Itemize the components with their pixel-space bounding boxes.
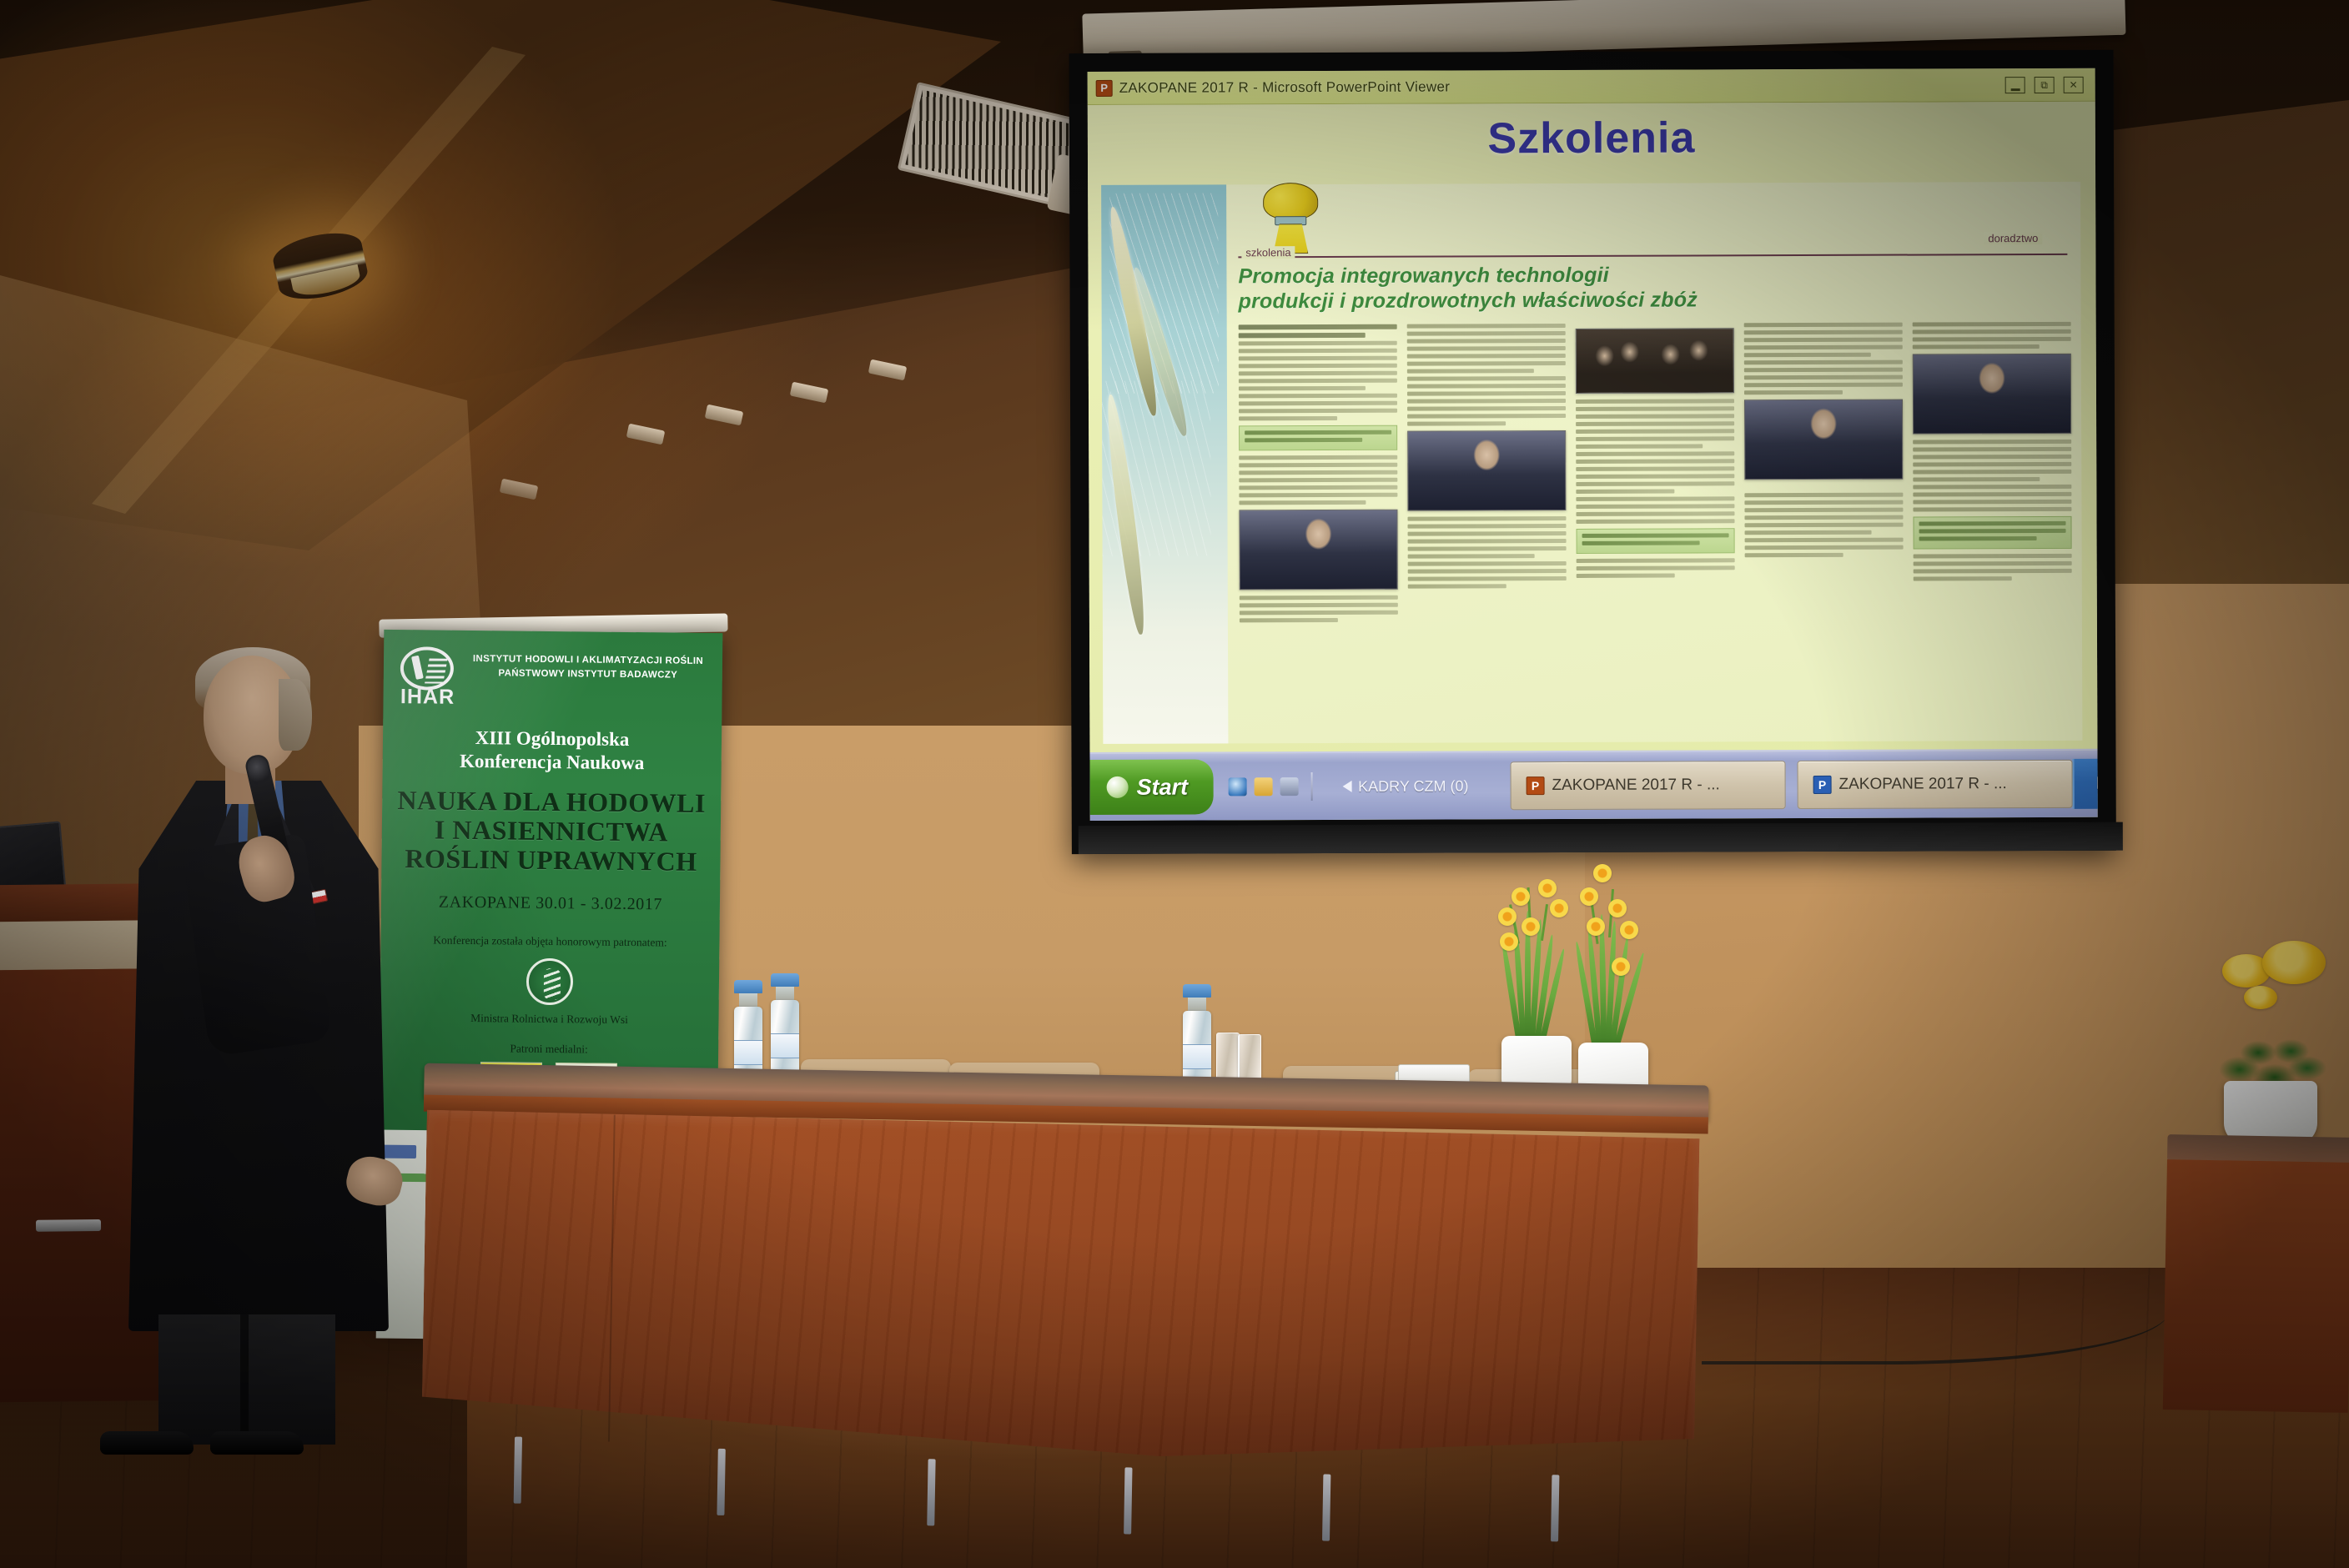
internet-explorer-icon[interactable]: [1228, 777, 1246, 796]
ihar-logo-mark: [400, 646, 455, 691]
powerpoint-viewer-window: P ZAKOPANE 2017 R - Microsoft PowerPoint…: [1088, 68, 2098, 821]
powerpoint-icon: P: [1096, 79, 1113, 96]
article-highlight-box: [1239, 425, 1397, 451]
start-button[interactable]: Start: [1089, 759, 1213, 815]
institute-name: INSTYTUT HODOWLI I AKLIMATYZACJI ROŚLIN …: [467, 647, 709, 682]
taskbar-item[interactable]: P ZAKOPANE 2017 R - ...: [1510, 761, 1785, 810]
trousers: [158, 1314, 335, 1445]
daffodil-bloom: [1608, 899, 1627, 917]
daffodil-bloom: [1538, 879, 1557, 897]
article-column: [1913, 322, 2073, 736]
screen-black-border: P ZAKOPANE 2017 R - Microsoft PowerPoint…: [1069, 50, 2116, 854]
article-portrait-photo: [1407, 430, 1566, 511]
window-titlebar[interactable]: P ZAKOPANE 2017 R - Microsoft PowerPoint…: [1088, 68, 2095, 105]
article-kicker-left: szkolenia: [1241, 246, 1295, 259]
daffodil-pot: [1572, 841, 1648, 1108]
article-body: szkolenia doradztwo Promocja integrowany…: [1226, 182, 2082, 744]
daffodil-bloom: [1612, 957, 1630, 976]
folder-icon[interactable]: [1254, 777, 1272, 796]
kalanchoe-plant: [2201, 926, 2349, 1151]
article-highlight-box: [1577, 528, 1735, 554]
bottle-label: [771, 1033, 799, 1058]
powerpoint-icon: P: [1526, 776, 1544, 795]
daffodil-bloom: [1593, 864, 1612, 882]
flower-cluster: [2244, 986, 2277, 1009]
media-player-icon[interactable]: [1280, 777, 1298, 796]
window-title: ZAKOPANE 2017 R - Microsoft PowerPoint V…: [1119, 78, 1451, 96]
water-bottle: [771, 973, 799, 1080]
banner-ministry: Ministra Rolnictwa i Rozwoju Wsi: [393, 1011, 705, 1028]
system-tray: PL 16:49: [2072, 758, 2097, 809]
conference-line-2: Konferencja Naukowa: [396, 749, 708, 776]
taskbar-item-label: ZAKOPANE 2017 R - ...: [1552, 776, 1719, 795]
institute-line-2: PAŃSTWOWY INSTYTUT BADAWCZY: [467, 666, 709, 683]
projection-screen: P ZAKOPANE 2017 R - Microsoft PowerPoint…: [1033, 15, 2140, 948]
conference-name: XIII Ogólnopolska Konferencja Naukowa: [396, 726, 709, 776]
banner-patronage-intro: Konferencja została objęta honorowym pat…: [394, 933, 706, 950]
daffodil-bloom: [1550, 899, 1568, 917]
wheat-photo: [1101, 184, 1228, 744]
table-leg: [1124, 1467, 1132, 1534]
quick-launch-bar: [1213, 772, 1329, 801]
article-column: [1239, 324, 1399, 739]
table-leg: [514, 1437, 522, 1504]
article-column: [1744, 323, 1904, 737]
bottle-body: [771, 1000, 799, 1080]
shoe-left: [100, 1431, 194, 1455]
minimize-icon[interactable]: [2005, 77, 2025, 93]
banner-main-title: NAUKA DLA HODOWLI I NASIENNICTWA ROŚLIN …: [395, 786, 707, 877]
powerpoint-icon: P: [1813, 776, 1831, 794]
article-columns: [1239, 322, 2073, 738]
table-leg: [717, 1449, 725, 1515]
taskbar-divider: [1310, 772, 1312, 801]
banner-header: IHAR INSTYTUT HODOWLI I AKLIMATYZACJI RO…: [396, 646, 709, 711]
daffodil-bloom: [1522, 917, 1540, 936]
headline-line-1: Promocja integrowanych technologii: [1238, 263, 1755, 289]
hair-side: [279, 679, 312, 751]
table-leg: [1551, 1475, 1559, 1541]
wheat-sheaf-icon: [1260, 183, 1321, 254]
water-bottle: [1183, 984, 1211, 1091]
restore-icon[interactable]: ⧉: [2035, 76, 2055, 93]
article-column: [1576, 323, 1736, 737]
taskbar-window-list: P ZAKOPANE 2017 R - ... P ZAKOPANE 2017 …: [1510, 760, 2072, 810]
daffodil-bloom: [1620, 921, 1638, 939]
bottle-cap: [1183, 984, 1211, 998]
daffodil-bloom: [1512, 887, 1530, 906]
banner-title-line-2: I NASIENNICTWA: [395, 815, 707, 847]
article-highlight-box: [1913, 516, 2071, 550]
taskbar-group-label[interactable]: KADRY CZM (0): [1329, 777, 1481, 796]
table-leg: [1322, 1474, 1330, 1540]
taskbar-item-label: ZAKOPANE 2017 R - ...: [1838, 775, 2006, 794]
article-portrait-photo: [1744, 400, 1903, 480]
banner-date-place: ZAKOPANE 30.01 - 3.02.2017: [395, 892, 707, 915]
shoe-right: [210, 1431, 304, 1455]
ministry-logo-icon: [526, 957, 574, 1005]
bottle-cap: [771, 973, 799, 987]
speaker-person: [115, 656, 407, 1440]
lectern-handle: [36, 1219, 101, 1232]
banner-title-line-3: ROŚLIN UPRAWNYCH: [395, 845, 707, 877]
expand-arrow-icon: [1342, 781, 1351, 792]
daffodil-bloom: [1580, 887, 1598, 906]
taskbar-item[interactable]: P ZAKOPANE 2017 R - ...: [1797, 760, 2072, 809]
windows-logo-icon: [1107, 776, 1129, 798]
banner-title-line-1: NAUKA DLA HODOWLI: [395, 786, 707, 818]
sheaf-head: [1263, 183, 1318, 219]
bottle-label: [1183, 1044, 1211, 1069]
article-group-photo: [1576, 328, 1734, 394]
bottle-neck: [739, 993, 757, 1007]
article-portrait-photo: [1913, 354, 2071, 435]
article-portrait-photo: [1239, 510, 1397, 591]
window-button-group: ⧉ ✕: [2005, 76, 2087, 93]
close-icon[interactable]: ✕: [2064, 76, 2084, 93]
slide-canvas: Szkolenia: [1088, 102, 2098, 752]
bottle-neck: [776, 987, 794, 1000]
article-headline: Promocja integrowanych technologii produ…: [1238, 263, 1755, 314]
conference-line-1: XIII Ogólnopolska: [396, 726, 708, 752]
start-label: Start: [1137, 774, 1189, 800]
conference-photo-scene: P ZAKOPANE 2017 R - Microsoft PowerPoint…: [0, 0, 2349, 1568]
wooden-side-table: [2160, 1134, 2349, 1568]
daffodil-pot: [1495, 834, 1572, 1101]
group-label-text: KADRY CZM (0): [1358, 777, 1468, 795]
table-leg: [927, 1459, 935, 1525]
scanned-article: szkolenia doradztwo Promocja integrowany…: [1101, 182, 2082, 744]
presidium-table: [416, 1063, 1708, 1536]
bottle-label: [734, 1040, 762, 1065]
article-rule: [1238, 254, 2067, 258]
headline-line-2: produkcji i prozdrowotnych właściwości z…: [1239, 288, 1756, 314]
slide-title: Szkolenia: [1487, 113, 1695, 163]
drinking-glass: [1238, 1034, 1261, 1083]
windows-taskbar: Start KADRY CZM (0): [1089, 749, 2097, 821]
daffodil-bloom: [1500, 932, 1518, 951]
screen-surface: P ZAKOPANE 2017 R - Microsoft PowerPoint…: [1088, 68, 2098, 821]
daffodil-bloom: [1587, 917, 1605, 936]
daffodil-bloom: [1498, 907, 1517, 926]
language-indicator[interactable]: PL: [2095, 774, 2097, 794]
banner-media-label: Patroni medialni:: [393, 1041, 705, 1058]
flower-cluster: [2262, 941, 2326, 984]
article-kicker-right: doradztwo: [1984, 232, 2042, 244]
bottle-neck: [1188, 998, 1206, 1011]
article-column: [1407, 324, 1567, 738]
drinking-glass: [1216, 1033, 1240, 1081]
bottle-cap: [734, 980, 762, 993]
side-table-front: [2163, 1159, 2349, 1413]
